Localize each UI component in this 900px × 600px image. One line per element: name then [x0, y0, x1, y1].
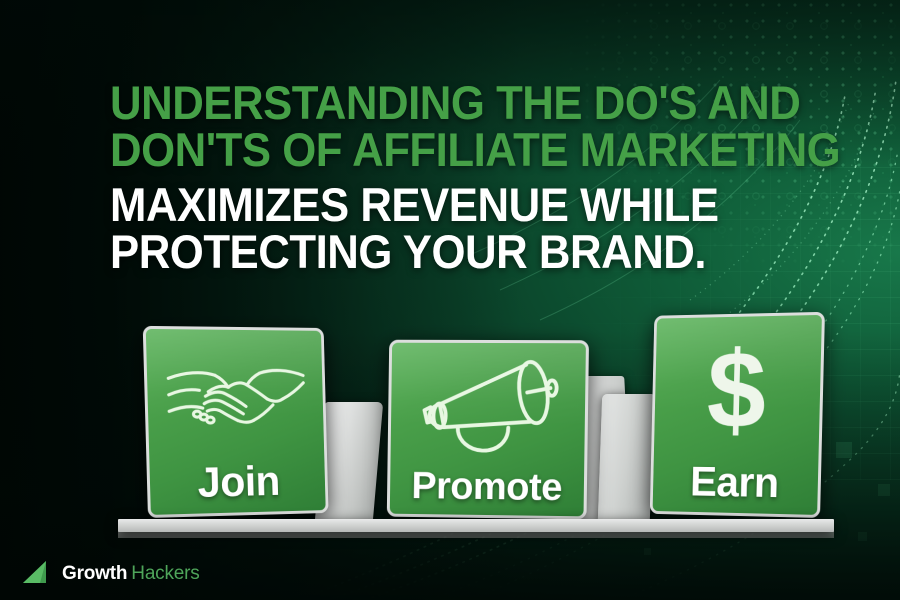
headline-line-2: DON'TS OF AFFILIATE MARKETING [110, 127, 798, 173]
shelf-base [118, 519, 834, 532]
shelf-edge [118, 531, 834, 538]
handshake-icon [146, 344, 324, 452]
headline-block: UNDERSTANDING THE DO'S AND DON'TS OF AFF… [110, 80, 850, 276]
dollar-sign-icon: $ [654, 331, 821, 447]
brand-logo[interactable]: GrowthHackers [22, 560, 200, 586]
step-card-promote[interactable]: Promote [387, 340, 589, 520]
card-label-earn: Earn [690, 459, 780, 509]
card-label-promote: Promote [411, 465, 562, 510]
backing-panel-3 [598, 394, 654, 522]
megaphone-icon [391, 356, 586, 457]
svg-text:$: $ [706, 328, 768, 451]
step-card-earn[interactable]: $ Earn [650, 312, 825, 518]
brand-logo-text: GrowthHackers [62, 564, 200, 583]
growth-arrow-icon [22, 560, 56, 586]
brand-logo-secondary: Hackers [131, 563, 199, 584]
card-label-join: Join [197, 458, 280, 508]
headline-line-4: PROTECTING YOUR BRAND. [110, 229, 798, 275]
steps-illustration: Join Promot [0, 300, 900, 540]
poster-canvas: UNDERSTANDING THE DO'S AND DON'TS OF AFF… [0, 0, 900, 600]
step-card-join[interactable]: Join [143, 326, 329, 518]
brand-logo-primary: Growth [62, 563, 127, 584]
headline-line-3: MAXIMIZES REVENUE WHILE [110, 182, 798, 228]
headline-line-1: UNDERSTANDING THE DO'S AND [110, 80, 798, 126]
